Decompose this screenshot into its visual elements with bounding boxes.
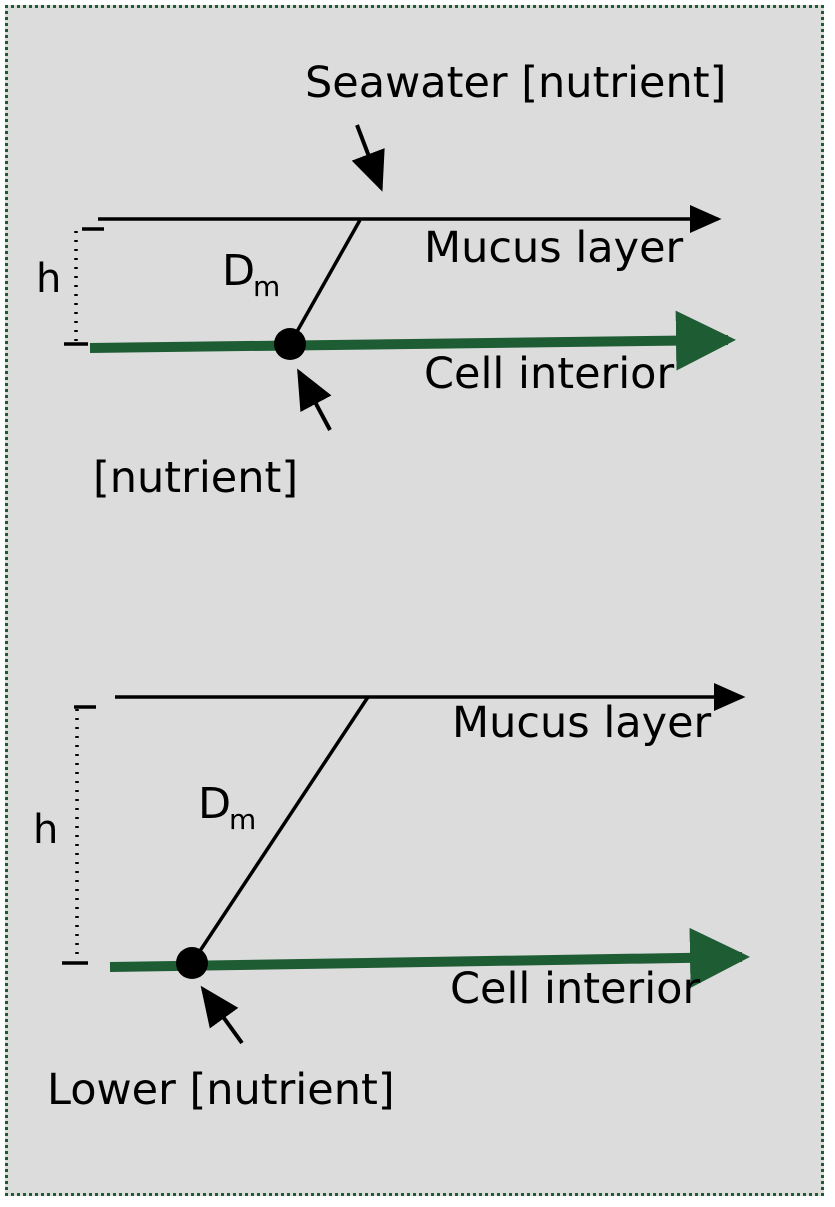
top-seawater-leader-icon bbox=[357, 125, 381, 188]
top-mucus-label: Mucus layer bbox=[424, 223, 684, 273]
top-thickness-label: h bbox=[36, 256, 61, 302]
diagram-svg: Seawater [nutrient] Mucus layer D m Cell… bbox=[0, 0, 835, 1207]
top-diffusion-subscript: m bbox=[253, 270, 280, 303]
top-nutrient-label: [nutrient] bbox=[93, 453, 298, 503]
top-seawater-label: Seawater [nutrient] bbox=[305, 58, 726, 108]
figure-canvas: Seawater [nutrient] Mucus layer D m Cell… bbox=[0, 0, 835, 1207]
bottom-nutrient-label: Lower [nutrient] bbox=[47, 1065, 395, 1115]
bottom-thickness-label: h bbox=[33, 807, 58, 853]
bottom-gradient-line bbox=[192, 697, 368, 963]
bottom-concentration-dot-icon bbox=[176, 947, 208, 979]
top-cell-label: Cell interior bbox=[424, 349, 674, 399]
top-diffusion-label: D bbox=[222, 246, 255, 296]
bottom-diffusion-subscript: m bbox=[229, 803, 256, 836]
top-gradient-line bbox=[290, 220, 360, 344]
top-nutrient-leader-icon bbox=[299, 372, 330, 430]
bottom-cell-label: Cell interior bbox=[450, 964, 700, 1014]
top-concentration-dot-icon bbox=[274, 328, 306, 360]
top-cell-membrane-axis bbox=[90, 340, 728, 348]
bottom-diffusion-label: D bbox=[198, 779, 231, 829]
bottom-nutrient-leader-icon bbox=[203, 989, 242, 1043]
bottom-mucus-label: Mucus layer bbox=[452, 698, 712, 748]
